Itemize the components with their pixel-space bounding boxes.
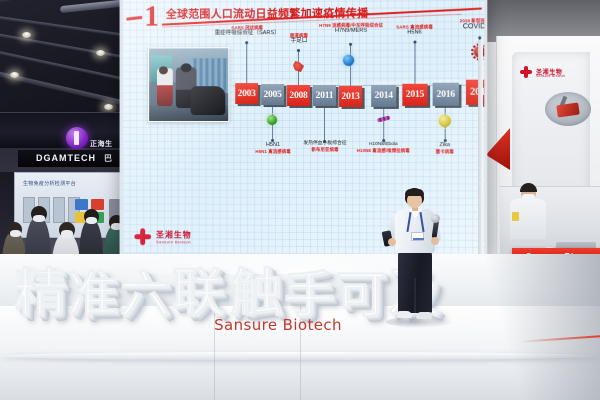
timeline-year-block: 2013 bbox=[339, 86, 362, 107]
booth-staff-badge bbox=[512, 212, 519, 221]
timeline-stem bbox=[246, 43, 247, 83]
timeline-year-block: 2015 bbox=[402, 84, 427, 106]
presenter-hand bbox=[431, 237, 439, 245]
presenter-hand bbox=[388, 238, 396, 246]
slogan-char: 联 bbox=[172, 268, 224, 320]
timeline-year-block: 2014 bbox=[371, 85, 396, 107]
timeline-label-above: H7N9 流感病毒/中东呼吸综合征 H7N9/MERS bbox=[317, 23, 385, 35]
purple-circle-logo-icon bbox=[66, 127, 88, 149]
face-mask-icon bbox=[10, 230, 21, 237]
timeline-stem bbox=[383, 108, 384, 140]
timeline-label-below: Zika 塞卡病毒 bbox=[422, 142, 469, 154]
neighbour-booth-poster-header: 生物免疫分析检测平台 bbox=[23, 180, 76, 187]
cross-logo-icon bbox=[520, 66, 532, 78]
neighbour-booth-brand-sign: DGAMTECH 巴 bbox=[18, 150, 132, 167]
slide-logo-en: Sansure Biotech bbox=[156, 239, 191, 244]
timeline-node bbox=[478, 36, 481, 39]
timeline-node bbox=[413, 41, 416, 44]
timeline-node bbox=[349, 43, 352, 46]
slogan-char: 触 bbox=[230, 268, 282, 320]
ceiling-spotlight-icon bbox=[96, 50, 105, 56]
timeline-label-above: 2019 新型冠状病毒 COVID-19 bbox=[444, 18, 485, 32]
presenter bbox=[378, 188, 450, 330]
microphone-head-icon bbox=[431, 214, 440, 223]
slogan-char: 六 bbox=[120, 270, 170, 320]
timeline-label-en: 手足口 bbox=[271, 38, 327, 45]
timeline-label-below: H5N1 H5N1 禽流感病毒 bbox=[247, 142, 299, 154]
timeline-stem bbox=[324, 108, 325, 141]
handfoot-virus-icon bbox=[293, 61, 304, 72]
presenter-shoe bbox=[397, 311, 412, 318]
timeline-year-block: 2005 bbox=[261, 84, 284, 105]
cross-logo-icon bbox=[134, 228, 151, 245]
slogan-char: 准 bbox=[68, 270, 118, 320]
ceiling-spotlight-icon bbox=[22, 32, 31, 38]
timeline-label-above: SARS 禽流感病毒 H5N6 bbox=[383, 24, 446, 36]
timeline-year-block: 2016 bbox=[433, 83, 459, 106]
timeline-label-en: H5N6 bbox=[383, 30, 446, 37]
timeline-label-below: H10N8/Ebola H10N8 禽流感/埃博拉病毒 bbox=[355, 142, 411, 153]
lanyard-badge bbox=[411, 232, 424, 241]
blue-virus-icon bbox=[343, 55, 354, 66]
timeline-label-cn: 塞卡病毒 bbox=[422, 149, 469, 154]
face-mask-icon bbox=[86, 217, 97, 224]
presenter-leg-split bbox=[414, 278, 416, 313]
neighbour-booth-brand-cn: 巴 bbox=[104, 153, 112, 164]
ceiling-spotlight-icon bbox=[10, 72, 19, 78]
timeline-stem bbox=[414, 43, 415, 84]
timeline-label-en: 发热伴血小板综合征 bbox=[297, 141, 353, 147]
yellow-virus-icon bbox=[439, 115, 451, 127]
booth-oval-product-image bbox=[545, 92, 591, 126]
screen-bezel bbox=[478, 40, 483, 262]
timeline-year-block: 2003 bbox=[235, 83, 258, 104]
stage-shadow bbox=[450, 254, 600, 400]
stage-slogan-letters: 精 准 六 联 触 手 可 及 bbox=[14, 252, 414, 320]
timeline-label-cn: H5N1 禽流感病毒 bbox=[247, 149, 299, 154]
booth-sansure-logo: 圣湘生物 Sansure Biotech bbox=[520, 66, 572, 80]
timeline-label-en: COVID-19 bbox=[444, 23, 485, 32]
slogan-char: 手 bbox=[284, 270, 334, 320]
timeline-label-cn: 新布尼亚病毒 bbox=[297, 147, 353, 152]
presenter-hair-front bbox=[405, 189, 424, 196]
neighbour-booth-brand-text: DGAMTECH bbox=[36, 153, 96, 163]
presenter-shoe bbox=[416, 312, 432, 319]
face-mask-icon bbox=[33, 215, 45, 222]
product-device bbox=[556, 103, 579, 118]
ceiling-spotlight-icon bbox=[104, 104, 113, 110]
timeline-label-en: H7N9/MERS bbox=[317, 28, 385, 35]
slide-brand-logo: 圣湘生物 Sansure Biotech bbox=[124, 224, 215, 250]
timeline-year-block: 2008 bbox=[287, 85, 310, 106]
timeline-year-block: 2011 bbox=[313, 85, 336, 106]
neighbour-booth-fascia-text: 正海生 bbox=[90, 139, 113, 149]
hall-ceiling bbox=[0, 0, 132, 118]
neighbour-booth-fascia: 正海生 bbox=[0, 112, 132, 148]
slogan-char: 精 bbox=[14, 268, 66, 320]
slogan-divider-dash bbox=[227, 296, 228, 306]
timeline-node bbox=[297, 49, 300, 52]
green-virus-icon bbox=[267, 115, 277, 125]
face-mask-icon bbox=[61, 230, 73, 238]
timeline-label-cn: H10N8 禽流感/埃博拉病毒 bbox=[355, 148, 411, 153]
timeline-node bbox=[245, 41, 248, 44]
exhibition-scene: 正海生 DGAMTECH 巴 生物免疫分析检测平台 bbox=[0, 0, 600, 400]
booth-logo-en: Sansure Biotech bbox=[536, 74, 565, 78]
stage-sub-brand: Sansure Biotech bbox=[168, 316, 388, 334]
timeline-label-below: 发热伴血小板综合征 新布尼亚病毒 bbox=[297, 141, 353, 152]
